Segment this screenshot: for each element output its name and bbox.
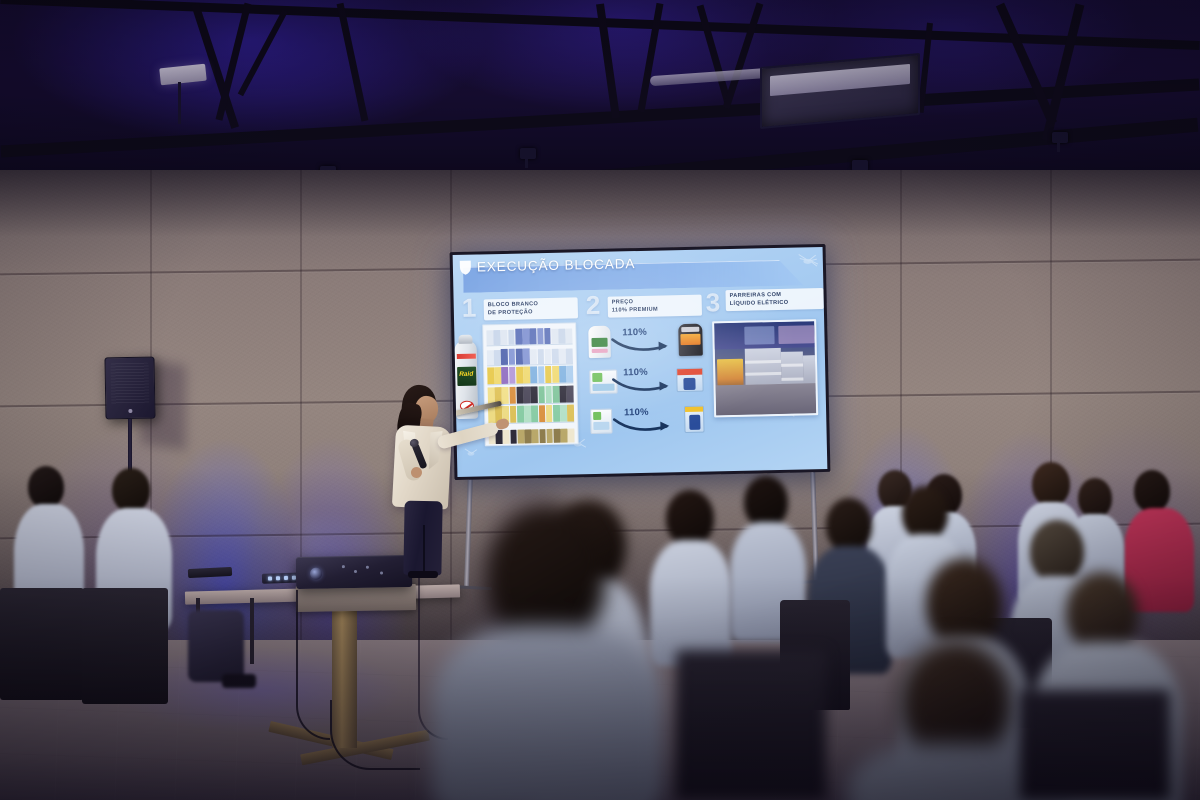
pa-speaker xyxy=(104,357,155,420)
column-1-label: BLOCO BRANCO DE PROTEÇÃO xyxy=(484,297,578,320)
hvac-unit xyxy=(760,53,920,129)
chair xyxy=(82,588,168,704)
attendee-head xyxy=(1032,462,1070,506)
attendee-head xyxy=(1134,470,1170,512)
duct-pipe xyxy=(650,68,770,86)
column-3-header: 3 PARREIRAS COM LÍQUIDO ELÉTRICO xyxy=(706,291,824,318)
light-mount-pole xyxy=(178,82,181,124)
speaker-led xyxy=(128,409,132,413)
product-after-box xyxy=(676,368,704,393)
arrow-icon xyxy=(611,374,679,395)
chair xyxy=(676,650,826,800)
attendee-torso xyxy=(432,626,662,800)
attendee-torso xyxy=(650,540,732,666)
column-1-label-line-2: DE PROTEÇÃO xyxy=(488,308,574,318)
product-before-can xyxy=(588,326,611,358)
slide-column-3: 3 PARREIRAS COM LÍQUIDO ELÉTRICO xyxy=(706,291,824,318)
arrow-icon xyxy=(610,334,678,355)
store-shelf-line xyxy=(781,377,803,380)
ceiling-light-fixture xyxy=(159,64,207,86)
upgrade-row: 110% xyxy=(587,362,706,401)
attendee xyxy=(650,490,732,660)
speaker-grill xyxy=(111,363,150,405)
upgrade-row: 110% xyxy=(586,322,705,361)
store-floor xyxy=(716,383,817,415)
arrow-icon xyxy=(612,414,680,435)
hvac-vent xyxy=(770,64,910,96)
truss-diagonal xyxy=(996,3,1057,125)
truss-diagonal xyxy=(723,2,764,109)
attendee-shoe xyxy=(222,674,256,688)
column-3-label-line-2: LÍQUIDO ELÉTRICO xyxy=(730,298,820,308)
attendee-head xyxy=(902,486,948,540)
presenter-arm-right xyxy=(436,421,499,450)
attendee-head xyxy=(926,558,1002,648)
column-2-number: 2 xyxy=(585,292,600,318)
column-3-label: PARREIRAS COM LÍQUIDO ELÉTRICO xyxy=(725,288,823,311)
slide-column-2: 2 PREÇO 110% PREMIUM 110% xyxy=(586,294,704,321)
mixer-led xyxy=(284,576,288,580)
planogram-shelf xyxy=(486,326,572,346)
attendee-head xyxy=(826,498,872,552)
product-before-plug xyxy=(590,409,613,434)
planogram-shelf xyxy=(487,346,573,366)
can-band xyxy=(456,354,475,359)
projection-screen: EXECUÇÃO BLOCADA 1 BLOCO BRANCO DE PROTE… xyxy=(450,244,831,480)
stage-spotlight xyxy=(520,148,536,159)
projector-lens xyxy=(310,568,322,580)
store-sign xyxy=(778,325,814,344)
mosquito-icon xyxy=(797,251,819,269)
presenter xyxy=(378,385,498,575)
floor-cable xyxy=(330,700,420,770)
trouser-seam xyxy=(423,525,425,575)
truss-diagonal xyxy=(337,3,369,122)
chair xyxy=(0,588,84,700)
attendee-head xyxy=(744,476,788,528)
upgrade-row: 110% xyxy=(588,402,707,441)
planogram-shelf xyxy=(487,365,573,385)
product-after-plug-box xyxy=(684,406,705,433)
shield-icon xyxy=(459,260,472,276)
can-cap xyxy=(458,335,472,344)
column-1-header: 1 BLOCO BRANCO DE PROTEÇÃO xyxy=(462,296,582,323)
attendee-head xyxy=(666,490,714,546)
mixer-led xyxy=(268,576,272,580)
column-2-label-line-2: 110% PREMIUM xyxy=(612,305,698,315)
slide-content: EXECUÇÃO BLOCADA 1 BLOCO BRANCO DE PROTE… xyxy=(453,247,828,477)
attendee-head xyxy=(28,466,64,508)
store-shelf-line xyxy=(781,363,803,366)
truss-diagonal xyxy=(216,3,252,121)
attendee-legs-shape xyxy=(188,610,244,682)
raid-logo xyxy=(457,367,476,386)
column-3-number: 3 xyxy=(705,289,720,315)
presenter-shoe xyxy=(408,571,438,578)
stage-spotlight xyxy=(1052,132,1068,143)
attendee-head xyxy=(900,640,1012,760)
attendee-head xyxy=(1078,478,1112,518)
slide-column-1: 1 BLOCO BRANCO DE PROTEÇÃO xyxy=(462,296,582,323)
truss-diagonal xyxy=(697,5,731,103)
projector-indicator xyxy=(342,565,345,568)
attendee-head xyxy=(112,468,150,512)
store-aisle-photo xyxy=(712,319,818,417)
projector-cable xyxy=(296,590,330,740)
attendee-head xyxy=(488,506,606,646)
mixer-led xyxy=(276,576,280,580)
product-after-can xyxy=(678,324,703,357)
store-sign xyxy=(744,326,774,345)
attendee-head xyxy=(1066,572,1138,652)
column-2-header: 2 PREÇO 110% PREMIUM xyxy=(586,294,704,321)
attendee-legs xyxy=(188,610,258,700)
column-2-label: PREÇO 110% PREMIUM xyxy=(608,295,702,318)
projector-indicator xyxy=(354,570,357,573)
presentation-room-photo: EXECUÇÃO BLOCADA 1 BLOCO BRANCO DE PROTE… xyxy=(0,0,1200,800)
projector-indicator xyxy=(366,566,369,569)
truss-diagonal xyxy=(1042,3,1085,141)
column-1-number: 1 xyxy=(461,295,476,321)
chair xyxy=(1020,690,1170,800)
